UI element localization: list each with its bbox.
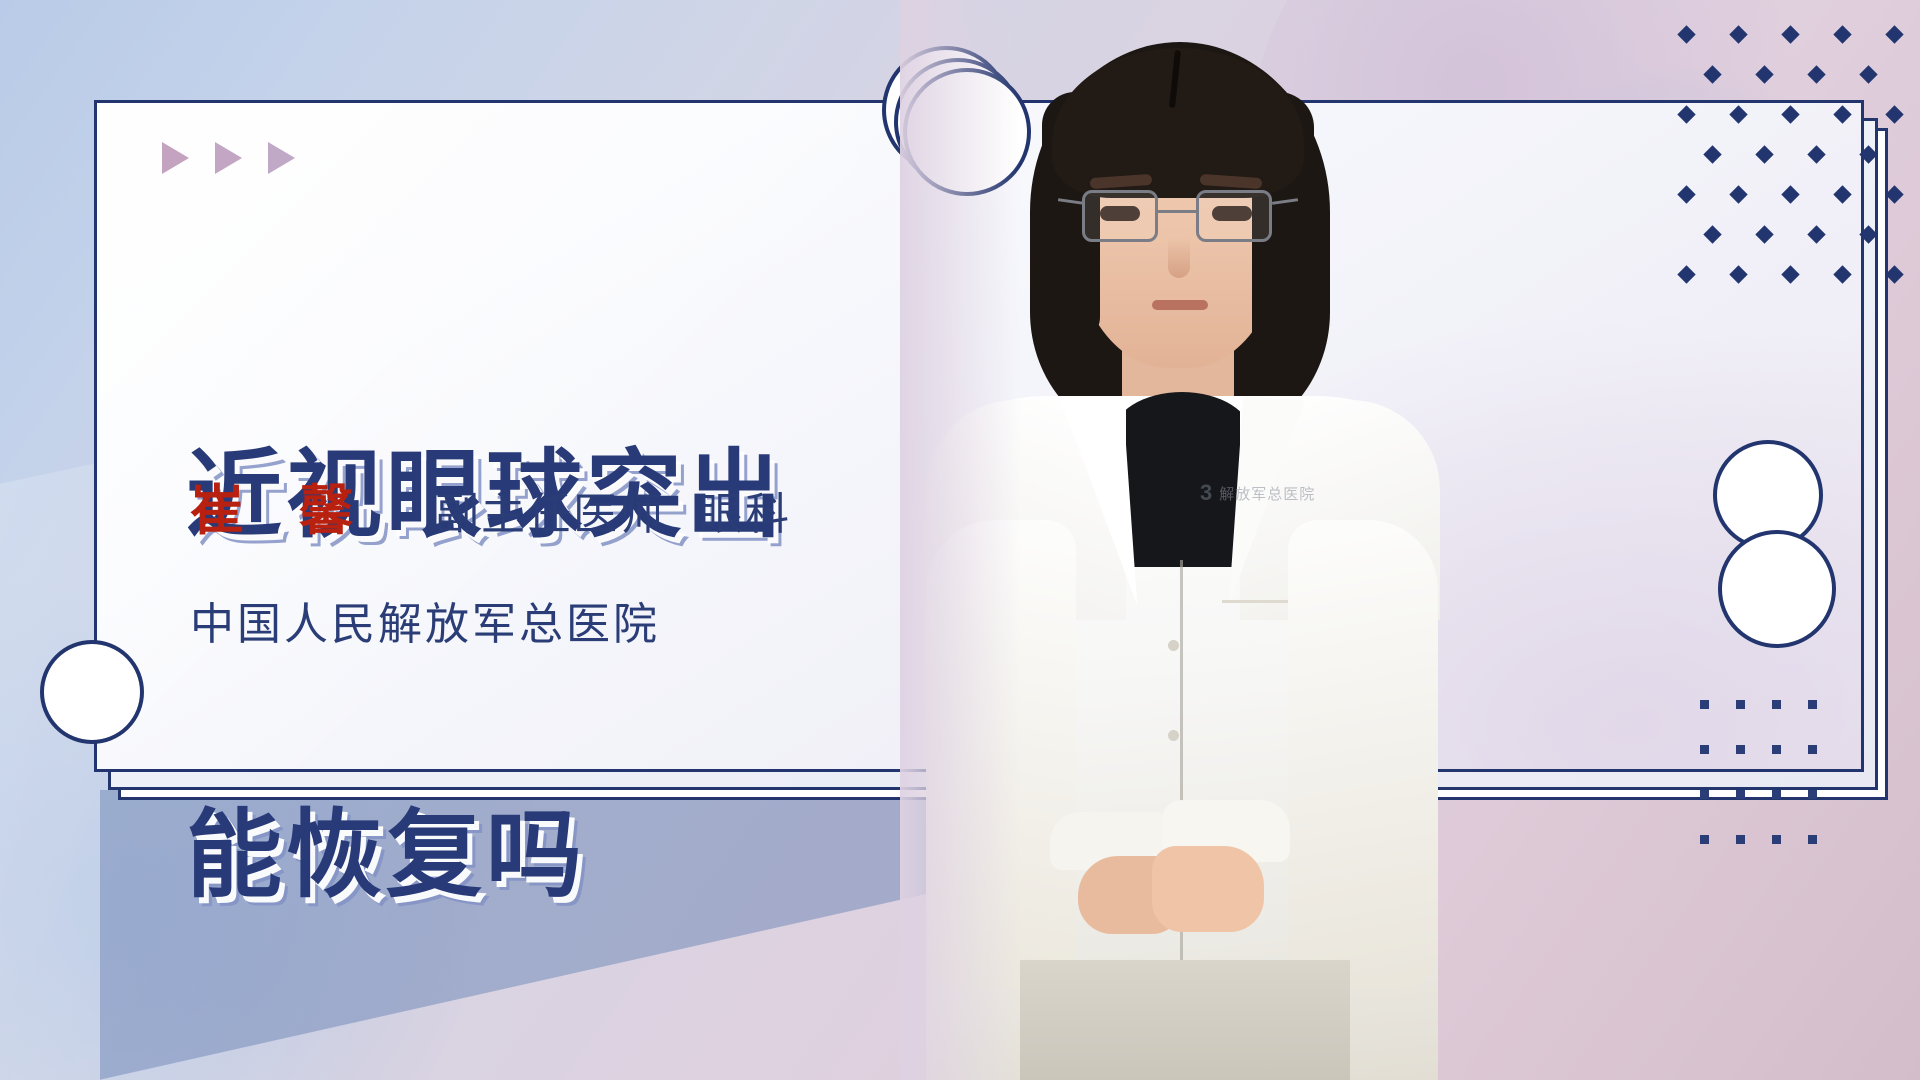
diamond-dot bbox=[1833, 185, 1851, 203]
diamond-dot bbox=[1859, 225, 1877, 243]
diamond-dot bbox=[1677, 105, 1695, 123]
photo-edge-fade bbox=[900, 0, 1020, 1080]
coat-badge-text: 解放军总医院 bbox=[1219, 483, 1315, 504]
diamond-dot bbox=[1807, 145, 1825, 163]
square-dot bbox=[1736, 700, 1745, 709]
hospital-name: 中国人民解放军总医院 bbox=[190, 588, 660, 652]
square-dot bbox=[1808, 835, 1817, 844]
square-dot bbox=[1772, 745, 1781, 754]
square-dot bbox=[1700, 745, 1709, 754]
square-dot bbox=[1772, 835, 1781, 844]
diamond-dot bbox=[1833, 25, 1851, 43]
diamond-dot bbox=[1677, 185, 1695, 203]
mouth bbox=[1152, 300, 1208, 310]
slide-canvas: 近视眼球突出 能恢复吗 崔 馨 副主任医师 眼科 中国人民解放军总医院 bbox=[0, 0, 1920, 1080]
square-dot bbox=[1772, 790, 1781, 799]
diamond-dot bbox=[1781, 105, 1799, 123]
diamond-dot bbox=[1781, 185, 1799, 203]
doctor-name: 崔 馨 bbox=[190, 484, 373, 538]
circle-outline-icon bbox=[1718, 530, 1836, 648]
diamond-dot bbox=[1729, 265, 1747, 283]
square-dot bbox=[1736, 835, 1745, 844]
diamond-dot bbox=[1885, 105, 1903, 123]
diamond-dot bbox=[1885, 25, 1903, 43]
diamond-dot bbox=[1833, 105, 1851, 123]
diamond-dot-grid bbox=[1680, 28, 1920, 320]
arm-right bbox=[1288, 520, 1438, 990]
diamond-dot bbox=[1885, 265, 1903, 283]
diamond-dot bbox=[1729, 25, 1747, 43]
coat-badge: 3 解放军总医院 bbox=[1200, 470, 1318, 516]
diamond-dot bbox=[1807, 225, 1825, 243]
diamond-dot bbox=[1677, 25, 1695, 43]
diamond-dot bbox=[1781, 265, 1799, 283]
diamond-dot bbox=[1703, 225, 1721, 243]
diamond-dot bbox=[1677, 265, 1695, 283]
doctor-credential-row: 崔 馨 副主任医师 眼科 bbox=[190, 484, 791, 538]
diamond-dot bbox=[1755, 225, 1773, 243]
square-dot-grid bbox=[1700, 700, 1900, 870]
coat-button bbox=[1168, 730, 1179, 741]
doctor-department: 眼科 bbox=[699, 493, 791, 537]
doctor-title: 副主任医师 bbox=[435, 493, 665, 537]
triangle-right-icon bbox=[162, 142, 189, 174]
glasses-lens-left bbox=[1082, 190, 1158, 242]
circle-outline-icon bbox=[40, 640, 144, 744]
doctor-photo: 3 解放军总医院 医生 bbox=[900, 0, 1460, 1080]
square-dot bbox=[1736, 790, 1745, 799]
diamond-dot bbox=[1833, 265, 1851, 283]
coat-badge-number: 3 bbox=[1200, 480, 1213, 506]
square-dot bbox=[1808, 745, 1817, 754]
diamond-dot bbox=[1755, 145, 1773, 163]
diamond-dot bbox=[1807, 65, 1825, 83]
square-dot bbox=[1772, 700, 1781, 709]
diamond-dot bbox=[1703, 145, 1721, 163]
glasses-bridge bbox=[1158, 210, 1196, 213]
square-dot bbox=[1808, 790, 1817, 799]
diamond-dot bbox=[1703, 65, 1721, 83]
trousers bbox=[1020, 960, 1350, 1080]
square-dot bbox=[1700, 700, 1709, 709]
arrow-decoration-group bbox=[162, 142, 295, 174]
hand-right bbox=[1152, 846, 1264, 932]
triangle-right-icon bbox=[215, 142, 242, 174]
square-dot bbox=[1808, 700, 1817, 709]
page-title-line-2: 能恢复吗 bbox=[186, 796, 786, 916]
glasses-lens-right bbox=[1196, 190, 1272, 242]
diamond-dot bbox=[1859, 65, 1877, 83]
nose bbox=[1168, 238, 1190, 278]
diamond-dot bbox=[1859, 145, 1877, 163]
square-dot bbox=[1736, 745, 1745, 754]
diamond-dot bbox=[1729, 105, 1747, 123]
square-dot bbox=[1700, 835, 1709, 844]
diamond-dot bbox=[1729, 185, 1747, 203]
diamond-dot bbox=[1885, 185, 1903, 203]
coat-button bbox=[1168, 640, 1179, 651]
diamond-dot bbox=[1755, 65, 1773, 83]
diamond-dot bbox=[1781, 25, 1799, 43]
triangle-right-icon bbox=[268, 142, 295, 174]
square-dot bbox=[1700, 790, 1709, 799]
